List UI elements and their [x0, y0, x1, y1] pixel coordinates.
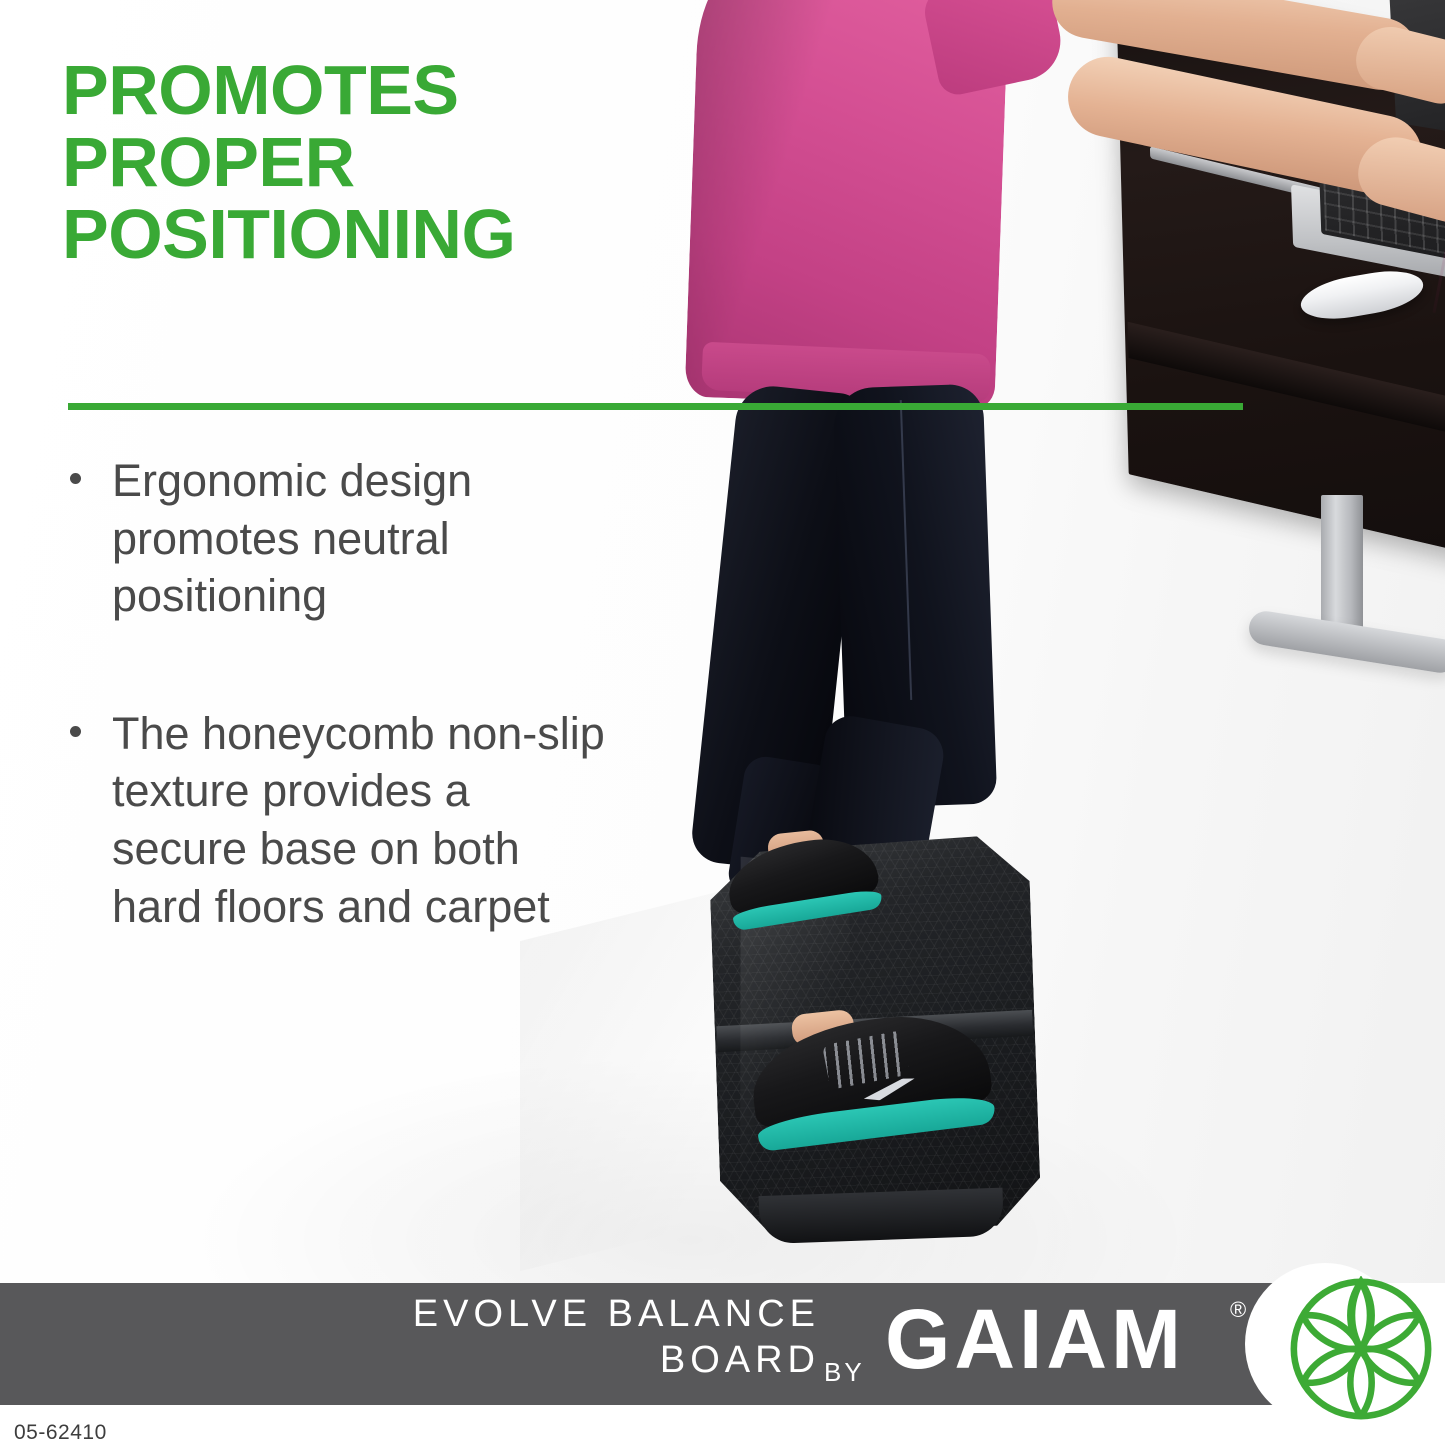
registered-trademark-symbol: ® — [1230, 1299, 1246, 1321]
gaiam-flower-logo-icon — [1288, 1276, 1434, 1422]
bullet-text: Ergonomic design promotes neutral positi… — [112, 455, 472, 621]
board-rocker-base — [759, 1188, 1005, 1244]
list-item: Ergonomic design promotes neutral positi… — [54, 452, 614, 625]
brand-wordmark: GAIAM — [885, 1297, 1185, 1381]
feature-bullet-list: Ergonomic design promotes neutral positi… — [54, 452, 614, 935]
bullet-dot-icon — [70, 473, 81, 484]
list-item: The honeycomb non-slip texture provides … — [54, 705, 614, 935]
brand-footer: EVOLVE BALANCE BOARD BY GAIAM ® 05-62410 — [0, 1283, 1445, 1445]
by-label: BY — [824, 1357, 865, 1388]
bullet-text: The honeycomb non-slip texture provides … — [112, 708, 605, 932]
green-divider-rule — [68, 403, 1243, 410]
product-feature-image: PROMOTES PROPER POSITIONING Ergonomic de… — [0, 0, 1445, 1445]
bullet-dot-icon — [70, 726, 81, 737]
sku-code: 05-62410 — [14, 1421, 107, 1445]
product-name: EVOLVE BALANCE BOARD — [170, 1291, 820, 1384]
page-title: PROMOTES PROPER POSITIONING — [62, 54, 762, 270]
standing-desk-column — [1321, 495, 1363, 640]
